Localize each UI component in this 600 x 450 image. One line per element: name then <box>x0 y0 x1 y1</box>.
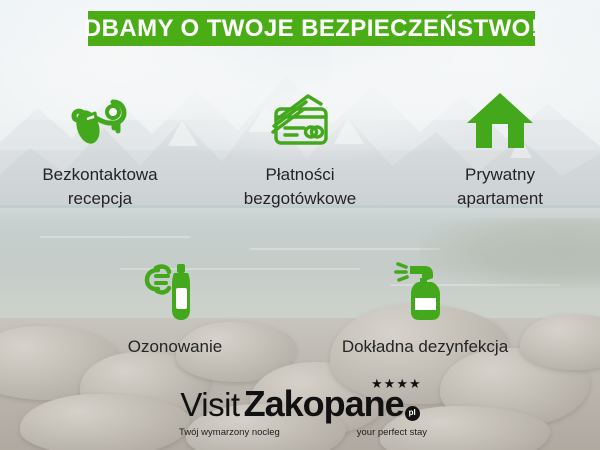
features-bottom-row: Ozonowanie Dokładna dezynfekcja <box>0 248 600 359</box>
house-icon <box>466 78 534 152</box>
logo-wordmark: Visit Zakopane pl ★★★★ <box>180 386 419 422</box>
logo-tagline-en: your perfect stay <box>357 427 427 438</box>
feature-label-line2: recepcja <box>42 187 157 211</box>
logo-taglines: Twój wymarzony nocleg your perfect stay <box>173 427 427 438</box>
feature-label-line1: Płatności <box>244 163 356 187</box>
feature-label-line1: Bezkontaktowa <box>42 163 157 187</box>
feature-label: Ozonowanie <box>128 335 223 359</box>
headline-banner: DBAMY O TWOJE BEZPIECZEŃSTWO! <box>88 11 535 46</box>
feature-label: Płatności bezgotówkowe <box>244 163 356 211</box>
logo-word-zakopane: Zakopane <box>244 386 404 422</box>
logo-tagline-pl: Twój wymarzony nocleg <box>179 427 280 438</box>
feature-label-line2: bezgotówkowe <box>244 187 356 211</box>
feature-ozonation: Ozonowanie <box>50 248 300 359</box>
safety-poster: DBAMY O TWOJE BEZPIECZEŃSTWO! Be <box>0 0 600 450</box>
feature-private-apartment: Prywatny apartament <box>400 78 600 211</box>
logo-stars-icon: ★★★★ <box>371 377 422 390</box>
visit-zakopane-logo[interactable]: Visit Zakopane pl ★★★★ Twój wymarzony no… <box>0 386 600 438</box>
headline-text: DBAMY O TWOJE BEZPIECZEŃSTWO! <box>84 17 539 41</box>
feature-cashless-payments: Płatności bezgotówkowe <box>200 78 400 211</box>
feature-label: Bezkontaktowa recepcja <box>42 163 157 211</box>
feature-label-line2: apartament <box>457 187 543 211</box>
logo-word-visit: Visit <box>180 388 239 421</box>
ozone-cylinder-icon <box>144 248 206 322</box>
feature-label: Prywatny apartament <box>457 163 543 211</box>
logo-domain-badge: pl <box>405 406 420 421</box>
feature-label-line1: Prywatny <box>457 163 543 187</box>
feature-label: Dokładna dezynfekcja <box>342 335 508 359</box>
feature-thorough-disinfection: Dokładna dezynfekcja <box>300 248 550 359</box>
features-top-row: Bezkontaktowa recepcja <box>0 78 600 211</box>
credit-cards-icon <box>264 78 336 152</box>
spray-bottle-icon <box>394 248 456 322</box>
feature-contactless-reception: Bezkontaktowa recepcja <box>0 78 200 211</box>
key-fob-icon <box>69 78 131 152</box>
